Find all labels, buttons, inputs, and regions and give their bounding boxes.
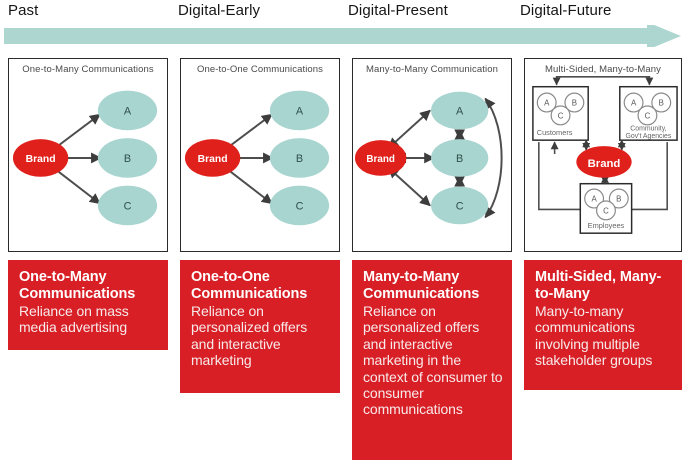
- svg-text:Customers: Customers: [537, 128, 573, 137]
- caption-body: Reliance on mass media advertising: [19, 303, 159, 336]
- svg-text:B: B: [616, 195, 621, 204]
- caption-body: Reliance on personalized offers and inte…: [191, 303, 331, 369]
- caption-title: One-to-Many Communications: [19, 269, 159, 302]
- timeline-label-digital-present: Digital-Present: [348, 2, 448, 19]
- svg-text:C: C: [603, 206, 609, 215]
- panel-many-to-many: Many-to-Many Communication A B C Bran: [352, 58, 512, 252]
- timeline-label-digital-future: Digital-Future: [520, 2, 611, 19]
- svg-text:Brand: Brand: [198, 154, 228, 165]
- panel-one-to-one: One-to-One Communications A B C Brand: [180, 58, 340, 252]
- svg-text:C: C: [456, 200, 464, 212]
- caption-card-many-to-many: Many-to-Many Communications Reliance on …: [352, 260, 512, 460]
- caption-title: One-to-One Communications: [191, 269, 331, 302]
- caption-body: Reliance on personalized offers and inte…: [363, 303, 503, 418]
- svg-text:B: B: [456, 153, 463, 165]
- panel-multi-sided: Multi-Sided, Many-to-Many A B C Customer…: [524, 58, 682, 252]
- svg-text:B: B: [659, 99, 664, 108]
- caption-card-one-to-many: One-to-Many Communications Reliance on m…: [8, 260, 168, 350]
- svg-text:Gov't Agencies: Gov't Agencies: [626, 133, 672, 140]
- svg-text:Brand: Brand: [26, 154, 56, 165]
- caption-title: Many-to-Many Communications: [363, 269, 503, 302]
- svg-text:A: A: [124, 105, 132, 117]
- panel-one-to-many: One-to-Many Communications A B C Brand: [8, 58, 168, 252]
- svg-text:A: A: [296, 105, 304, 117]
- svg-text:Employees: Employees: [588, 221, 625, 230]
- caption-card-multi-sided: Multi-Sided, Many-to-Many Many-to-many c…: [524, 260, 682, 390]
- svg-text:B: B: [572, 99, 577, 108]
- figure-canvas: Past Digital-Early Digital-Present Digit…: [0, 0, 685, 467]
- timeline-arrow-icon: [4, 25, 681, 47]
- svg-text:C: C: [558, 111, 564, 120]
- svg-text:C: C: [645, 111, 651, 120]
- svg-text:A: A: [591, 195, 597, 204]
- caption-title: Multi-Sided, Many-to-Many: [535, 269, 673, 302]
- caption-card-one-to-one: One-to-One Communications Reliance on pe…: [180, 260, 340, 393]
- svg-text:C: C: [124, 200, 132, 212]
- timeline-label-digital-early: Digital-Early: [178, 2, 260, 19]
- svg-text:Brand: Brand: [366, 154, 394, 165]
- svg-text:A: A: [631, 99, 637, 108]
- svg-text:C: C: [296, 200, 304, 212]
- svg-text:B: B: [296, 153, 303, 165]
- svg-text:Brand: Brand: [588, 158, 621, 170]
- caption-body: Many-to-many communications involving mu…: [535, 303, 673, 369]
- timeline-label-past: Past: [8, 2, 38, 19]
- svg-text:Community,: Community,: [630, 125, 666, 132]
- svg-text:A: A: [544, 99, 550, 108]
- svg-text:A: A: [456, 105, 464, 117]
- svg-text:B: B: [124, 153, 131, 165]
